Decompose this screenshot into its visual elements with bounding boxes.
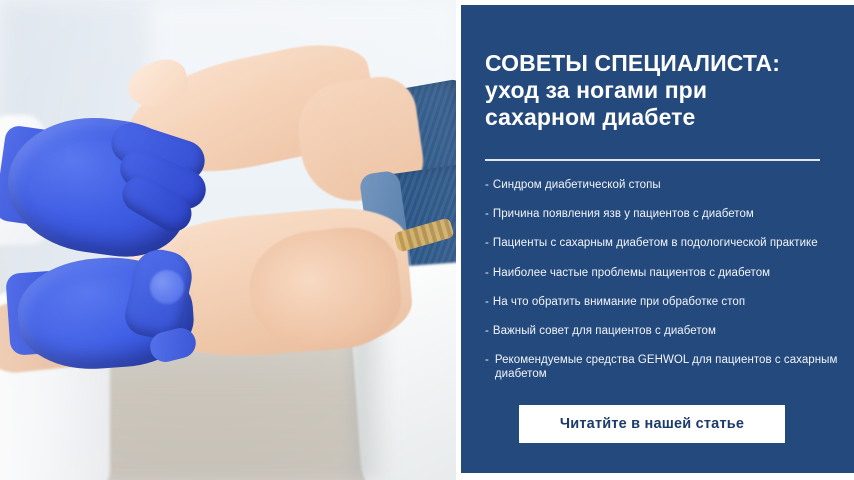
list-item-label: Синдром диабетической стопы bbox=[493, 178, 845, 192]
list-item-label: Важный совет для пациентов с диабетом bbox=[493, 324, 845, 338]
bullet-dash: - bbox=[485, 236, 489, 250]
bullet-dash: - bbox=[485, 324, 489, 338]
list-item: - Пациенты с сахарным диабетом в подолог… bbox=[485, 236, 845, 250]
bullet-dash: - bbox=[485, 353, 489, 381]
promo-banner: СОВЕТЫ СПЕЦИАЛИСТА: уход за ногами при с… bbox=[0, 0, 854, 480]
list-item: - На что обратить внимание при обработке… bbox=[485, 295, 845, 309]
page-title: СОВЕТЫ СПЕЦИАЛИСТА: уход за ногами при с… bbox=[485, 50, 835, 131]
podiatry-photo bbox=[0, 0, 456, 480]
topics-list: - Синдром диабетической стопы - Причина … bbox=[485, 178, 845, 396]
list-item: - Синдром диабетической стопы bbox=[485, 178, 845, 192]
bullet-dash: - bbox=[485, 207, 489, 221]
bullet-dash: - bbox=[485, 295, 489, 309]
list-item-label: Пациенты с сахарным диабетом в подологич… bbox=[493, 236, 845, 250]
page-title-line-2: уход за ногами при bbox=[485, 77, 835, 104]
page-title-line-1: СОВЕТЫ СПЕЦИАЛИСТА: bbox=[485, 50, 835, 77]
list-item: - Рекомендуемые средства GEHWOL для паци… bbox=[485, 353, 845, 381]
page-title-line-3: сахарном диабете bbox=[485, 104, 835, 131]
title-divider bbox=[485, 159, 820, 161]
bullet-dash: - bbox=[485, 178, 489, 192]
read-article-button[interactable]: Читатйте в нашей статье bbox=[519, 405, 785, 443]
info-panel: СОВЕТЫ СПЕЦИАЛИСТА: уход за ногами при с… bbox=[461, 5, 854, 473]
list-item: - Причина появления язв у пациентов с ди… bbox=[485, 207, 845, 221]
list-item-label: Причина появления язв у пациентов с диаб… bbox=[493, 207, 845, 221]
list-item-label: На что обратить внимание при обработке с… bbox=[493, 295, 845, 309]
list-item: - Важный совет для пациентов с диабетом bbox=[485, 324, 845, 338]
bullet-dash: - bbox=[485, 266, 489, 280]
list-item-label: Рекомендуемые средства GEHWOL для пациен… bbox=[495, 353, 845, 381]
list-item-label: Наиболее частые проблемы пациентов с диа… bbox=[493, 266, 845, 280]
read-article-button-label: Читатйте в нашей статье bbox=[560, 416, 744, 432]
photo-soft-light-overlay bbox=[0, 0, 456, 480]
list-item: - Наиболее частые проблемы пациентов с д… bbox=[485, 266, 845, 280]
